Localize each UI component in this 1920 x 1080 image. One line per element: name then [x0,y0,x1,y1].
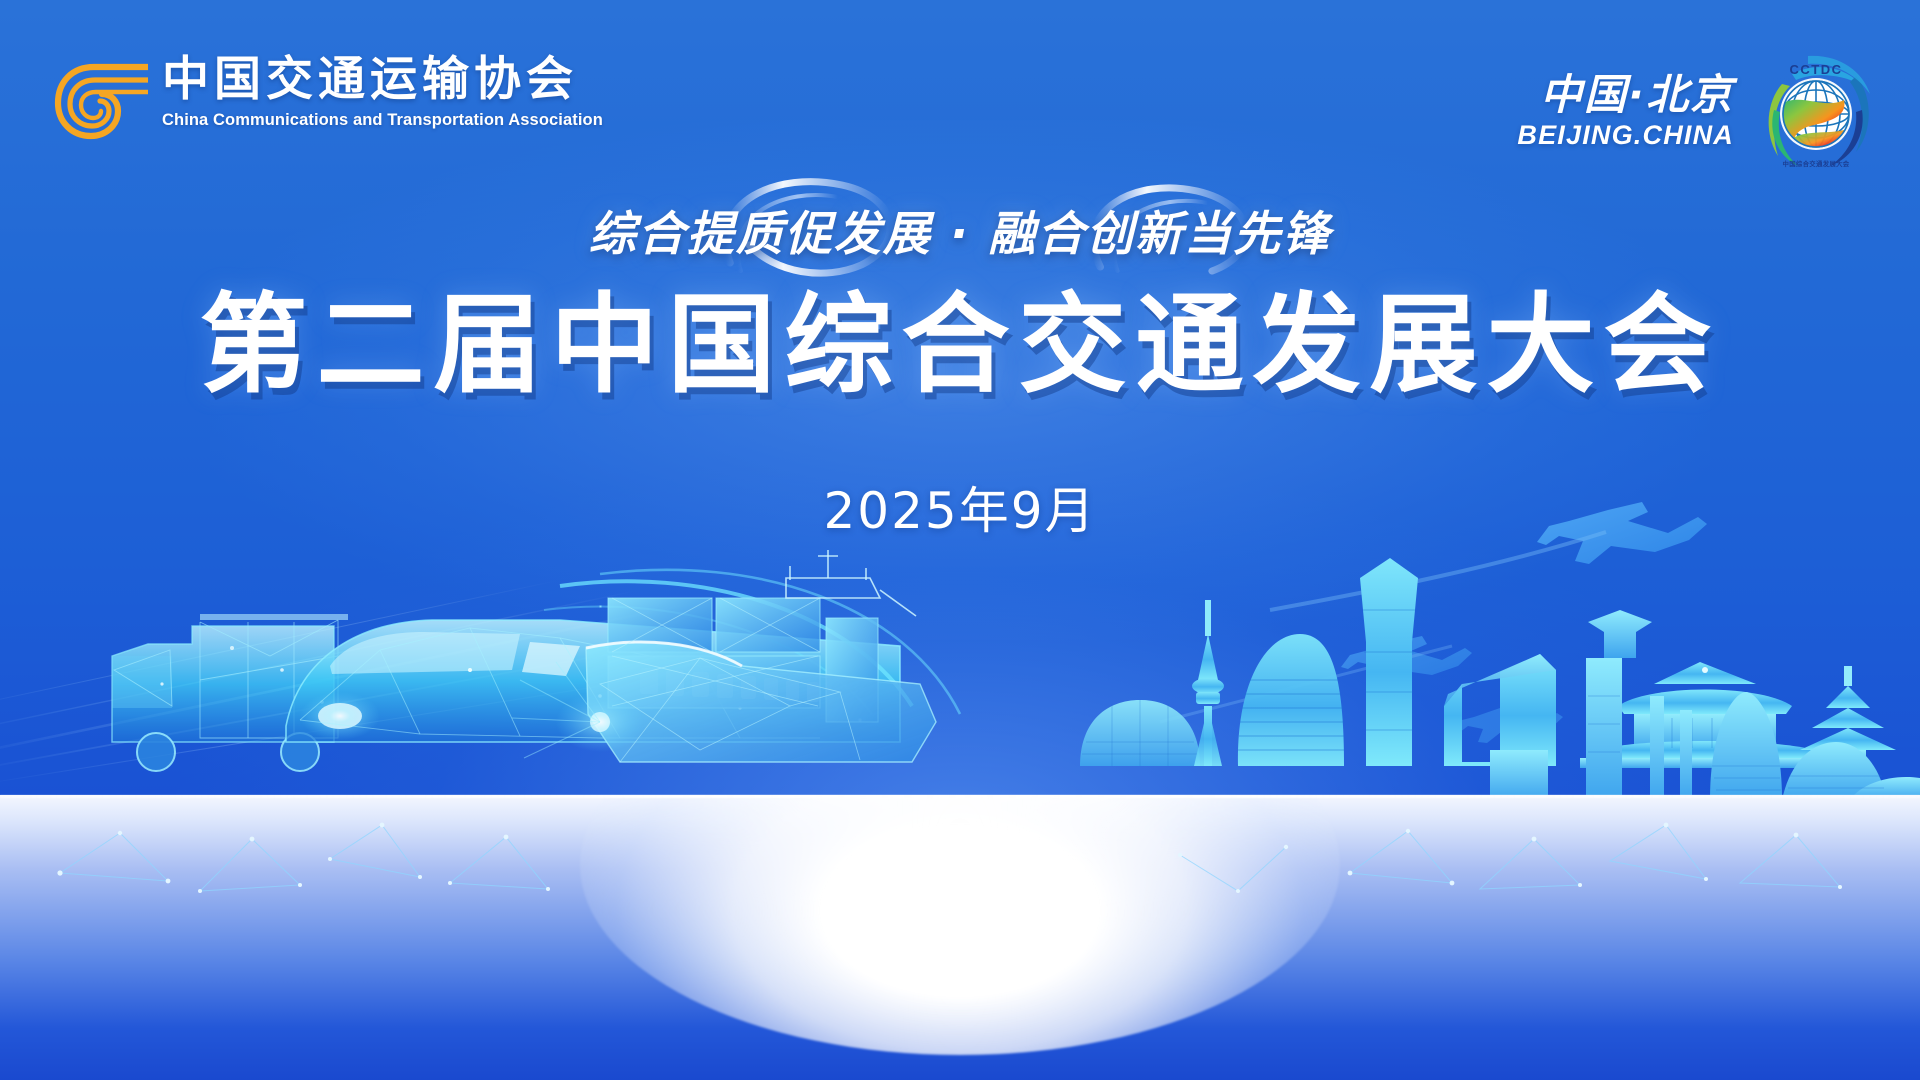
banner-main-text: 综合提质促发展 · 融合创新当先锋 第二届中国综合交通发展大会 2025年9月 [0,195,1920,543]
cctdc-globe-emblem-icon: CCTDC 中国综合交通发展大会 [1752,48,1880,176]
event-slogan: 综合提质促发展 · 融合创新当先锋 [589,195,1332,264]
association-name-en: China Communications and Transportation … [162,111,603,130]
association-name-cn: 中国交通运输协会 [162,56,603,105]
banner-header: 中国交通运输协会 China Communications and Transp… [0,0,1920,180]
conference-banner: 中国交通运输协会 China Communications and Transp… [0,0,1920,1080]
horizon-line [0,795,1920,798]
slogan-block: 综合提质促发展 · 融合创新当先锋 [519,195,1402,264]
ground-plane [0,795,1920,1080]
host-city-block: 中国·北京 BEIJING.CHINA [1517,48,1880,176]
emblem-caption: 中国综合交通发展大会 [1783,159,1850,168]
city-name-en: BEIJING.CHINA [1517,120,1734,151]
event-date: 2025年9月 [0,471,1920,543]
emblem-acronym: CCTDC [1790,62,1843,77]
spiral-road-logo-icon [48,56,148,146]
city-name-cn: 中国·北京 [1517,73,1734,117]
particle-network [0,795,1920,915]
event-title: 第二届中国综合交通发展大会 [0,282,1920,409]
association-logo: 中国交通运输协会 China Communications and Transp… [48,52,603,146]
